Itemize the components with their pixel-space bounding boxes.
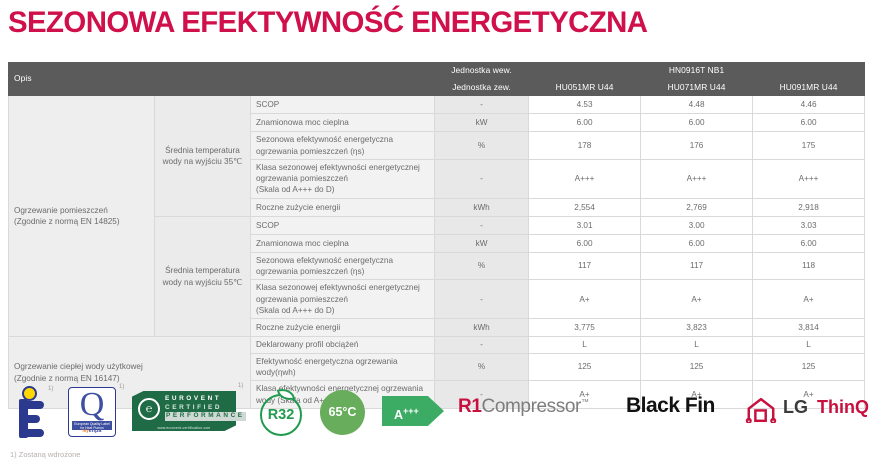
row-value-1: 125: [529, 353, 641, 381]
row-value-2: A+: [641, 280, 753, 319]
keymark-arm-bottom-icon: [27, 429, 44, 437]
row-value-3: 6.00: [753, 234, 865, 252]
subgroup-label-55c: Średnia temperatura wody na wyjściu 55℃: [155, 216, 251, 337]
row-label: Roczne zużycie energii: [251, 319, 435, 337]
r1-mark: R1: [458, 396, 482, 417]
row-value-3: 3,814: [753, 319, 865, 337]
keymark-superscript: 1): [48, 386, 53, 392]
row-unit: kWh: [435, 198, 529, 216]
row-value-1: 3.01: [529, 216, 641, 234]
energy-class-arrow: A+++: [382, 396, 444, 426]
spec-sheet-page: SEZONOWA EFEKTYWNOŚĆ ENERGETYCZNA Opis J…: [0, 0, 872, 469]
eurovent-emblem-icon: ℮: [138, 398, 160, 420]
row-label: Znamionowa moc cieplna: [251, 114, 435, 132]
temperature-65c-icon: 65°C: [320, 390, 365, 435]
energy-class-plus: +++: [403, 406, 419, 416]
row-value-1: 117: [529, 252, 641, 280]
r32-refrigerant-icon: R32: [258, 388, 306, 436]
page-title: SEZONOWA EFEKTYWNOŚĆ ENERGETYCZNA: [8, 6, 647, 40]
keymark-arm-top-icon: [27, 401, 44, 409]
trademark-symbol: ™: [581, 398, 589, 407]
row-unit: kW: [435, 114, 529, 132]
row-label: Sezonowa efektywność energetyczna ogrzew…: [251, 132, 435, 160]
header-outdoor-model-2: HU071MR U44: [641, 79, 753, 96]
row-value-1: A+: [529, 280, 641, 319]
row-label: SCOP: [251, 96, 435, 114]
temperature-65c-label: 65°C: [320, 390, 365, 435]
row-value-1: 3,775: [529, 319, 641, 337]
row-unit: %: [435, 132, 529, 160]
ehpa-q-glyph: Q: [69, 388, 115, 422]
row-value-1: L: [529, 337, 641, 353]
row-value-3: 125: [753, 353, 865, 381]
ehpa-quality-label-icon: Q European Quality Label for Heat Pumps …: [68, 387, 116, 437]
table-body: Ogrzewanie pomieszczeń (Zgodnie z normą …: [9, 96, 865, 409]
energy-class-badge: A+++: [382, 396, 444, 426]
row-label: Klasa sezonowej efektywności energetyczn…: [251, 280, 435, 319]
row-value-3: 6.00: [753, 114, 865, 132]
ehpa-wordmark: myehpa: [72, 428, 112, 434]
energy-class-letter: A: [394, 408, 403, 422]
row-unit: -: [435, 96, 529, 114]
row-unit: -: [435, 216, 529, 234]
row-value-3: 3.03: [753, 216, 865, 234]
row-unit: kWh: [435, 319, 529, 337]
group-label-line1: Ogrzewanie pomieszczeń: [14, 205, 149, 216]
black-fin-label: Black Fin: [626, 394, 715, 418]
row-unit: kW: [435, 234, 529, 252]
header-description: Opis: [9, 63, 435, 96]
r32-ring: R32: [260, 394, 302, 436]
row-value-2: 3.00: [641, 216, 753, 234]
group-label-line1: Ogrzewanie ciepłej wody użytkowej: [14, 361, 245, 372]
row-value-3: 4.46: [753, 96, 865, 114]
keymark-arm-mid-icon: [27, 415, 40, 423]
table-row: Ogrzewanie ciepłej wody użytkowej (Zgodn…: [9, 337, 865, 353]
row-value-3: L: [753, 337, 865, 353]
subgroup-label-line1: Średnia temperatura: [160, 265, 245, 276]
header-outdoor-unit-label: Jednostka zew.: [435, 79, 529, 96]
thinq-wordmark: ThinQ: [817, 397, 869, 418]
header-indoor-unit-label: Jednostka wew.: [435, 63, 529, 80]
eurovent-certified-icon: ℮ EUROVENT CERTIFIED PERFORMANCE www.eur…: [132, 391, 236, 431]
row-value-2: 6.00: [641, 114, 753, 132]
row-label: SCOP: [251, 216, 435, 234]
row-value-3: 118: [753, 252, 865, 280]
row-label: Roczne zużycie energii: [251, 198, 435, 216]
row-value-2: 3,823: [641, 319, 753, 337]
keymark-icon: 1): [14, 386, 48, 438]
row-label: Sezonowa efektywność energetyczna ogrzew…: [251, 252, 435, 280]
group-label-space-heating: Ogrzewanie pomieszczeń (Zgodnie z normą …: [9, 96, 155, 337]
header-outdoor-model-3: HU091MR U44: [753, 79, 865, 96]
table-header-row-1: Opis Jednostka wew. HN0916T NB1: [9, 63, 865, 80]
row-value-1: 2,554: [529, 198, 641, 216]
eurovent-text-block: EUROVENT CERTIFIED PERFORMANCE: [165, 395, 232, 421]
row-unit: %: [435, 252, 529, 280]
r1-compressor-logo: R1Compressor™: [458, 396, 589, 418]
subgroup-label-35c: Średnia temperatura wody na wyjściu 35℃: [155, 96, 251, 217]
eurovent-line3: PERFORMANCE: [165, 412, 246, 421]
row-value-2: A+++: [641, 159, 753, 198]
subgroup-label-line1: Średnia temperatura: [160, 145, 245, 156]
row-value-2: 176: [641, 132, 753, 160]
row-label: Znamionowa moc cieplna: [251, 234, 435, 252]
table-row: Ogrzewanie pomieszczeń (Zgodnie z normą …: [9, 96, 865, 114]
row-value-3: A+: [753, 280, 865, 319]
footnote: 1) Zostaną wdrożone: [10, 450, 80, 459]
row-label: Deklarowany profil obciążeń: [251, 337, 435, 353]
specification-table: Opis Jednostka wew. HN0916T NB1 Jednostk…: [8, 62, 865, 409]
row-unit: -: [435, 280, 529, 319]
row-value-3: 2,918: [753, 198, 865, 216]
subgroup-label-line2: wody na wyjściu 35℃: [160, 156, 245, 167]
row-value-1: 6.00: [529, 234, 641, 252]
row-unit: -: [435, 159, 529, 198]
eurovent-line2: CERTIFIED: [165, 404, 232, 413]
eurovent-url: www.eurovent-certification.com: [136, 426, 232, 430]
row-value-2: 117: [641, 252, 753, 280]
compressor-word: Compressor: [482, 396, 581, 417]
ehpa-superscript: 1): [119, 384, 124, 390]
row-value-3: 175: [753, 132, 865, 160]
black-fin-logo: Black Fin: [626, 394, 715, 418]
row-value-1: 6.00: [529, 114, 641, 132]
row-value-2: 6.00: [641, 234, 753, 252]
group-label-line2: (Zgodnie z normą EN 14825): [14, 216, 149, 227]
row-value-1: 178: [529, 132, 641, 160]
lg-wordmark: LG: [783, 397, 808, 418]
row-label: Klasa sezonowej efektywności energetyczn…: [251, 159, 435, 198]
home-icon: [745, 396, 777, 423]
header-outdoor-model-1: HU051MR U44: [529, 79, 641, 96]
row-value-2: L: [641, 337, 753, 353]
row-value-3: A+++: [753, 159, 865, 198]
header-indoor-model: HN0916T NB1: [529, 63, 865, 80]
specification-table-container: Opis Jednostka wew. HN0916T NB1 Jednostk…: [8, 62, 864, 409]
certification-badges-row: 1) Q European Quality Label for Heat Pum…: [10, 382, 866, 444]
row-unit: -: [435, 337, 529, 353]
ehpa-name: ehpa: [89, 428, 102, 434]
eurovent-superscript: 1): [238, 383, 243, 389]
eurovent-line1: EUROVENT: [165, 395, 232, 404]
row-value-2: 4.48: [641, 96, 753, 114]
row-value-1: A+++: [529, 159, 641, 198]
row-unit: %: [435, 353, 529, 381]
row-label: Efektywność energetyczna ogrzewania wody…: [251, 353, 435, 381]
row-value-1: 4.53: [529, 96, 641, 114]
subgroup-label-line2: wody na wyjściu 55℃: [160, 277, 245, 288]
lg-thinq-logo: LG ThinQ: [745, 394, 870, 426]
row-value-2: 2,769: [641, 198, 753, 216]
row-value-2: 125: [641, 353, 753, 381]
